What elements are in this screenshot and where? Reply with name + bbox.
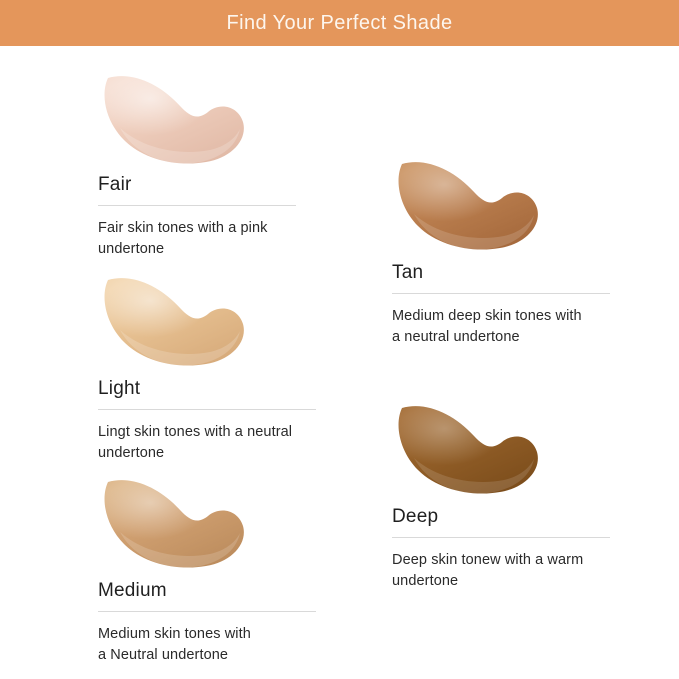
shade-divider-fair: [98, 205, 296, 206]
shade-description-tan: Medium deep skin tones with a neutral un…: [392, 306, 612, 348]
shade-divider-deep: [392, 537, 610, 538]
shade-card-fair[interactable]: Fair Fair skin tones with a pink underto…: [98, 62, 298, 260]
swatch-medium: [98, 466, 318, 571]
shade-divider-light: [98, 409, 316, 410]
shade-description-deep: Deep skin tonew with a warm undertone: [392, 550, 612, 592]
page-header: Find Your Perfect Shade: [0, 0, 679, 46]
shade-name-light: Light: [98, 379, 318, 400]
shade-card-light[interactable]: Light Lingt skin tones with a neutral un…: [98, 264, 318, 464]
shade-description-medium: Medium skin tones with a Neutral underto…: [98, 624, 318, 666]
page-title: Find Your Perfect Shade: [226, 12, 452, 35]
foundation-swatch-icon: [98, 466, 248, 571]
swatch-light: [98, 264, 318, 369]
foundation-swatch-icon: [392, 392, 542, 497]
shade-card-deep[interactable]: Deep Deep skin tonew with a warm underto…: [392, 392, 612, 592]
swatch-fair: [98, 62, 298, 167]
shade-divider-medium: [98, 611, 316, 612]
swatch-tan: [392, 148, 612, 253]
shade-name-deep: Deep: [392, 507, 612, 528]
foundation-swatch-icon: [98, 62, 248, 167]
shade-name-fair: Fair: [98, 175, 298, 196]
shade-description-light: Lingt skin tones with a neutral underton…: [98, 422, 318, 464]
shade-card-tan[interactable]: Tan Medium deep skin tones with a neutra…: [392, 148, 612, 348]
shade-name-medium: Medium: [98, 581, 318, 602]
shade-divider-tan: [392, 293, 610, 294]
swatch-deep: [392, 392, 612, 497]
shade-card-medium[interactable]: Medium Medium skin tones with a Neutral …: [98, 466, 318, 666]
shade-name-tan: Tan: [392, 263, 612, 284]
shade-description-fair: Fair skin tones with a pink undertone: [98, 218, 298, 260]
foundation-swatch-icon: [98, 264, 248, 369]
foundation-swatch-icon: [392, 148, 542, 253]
